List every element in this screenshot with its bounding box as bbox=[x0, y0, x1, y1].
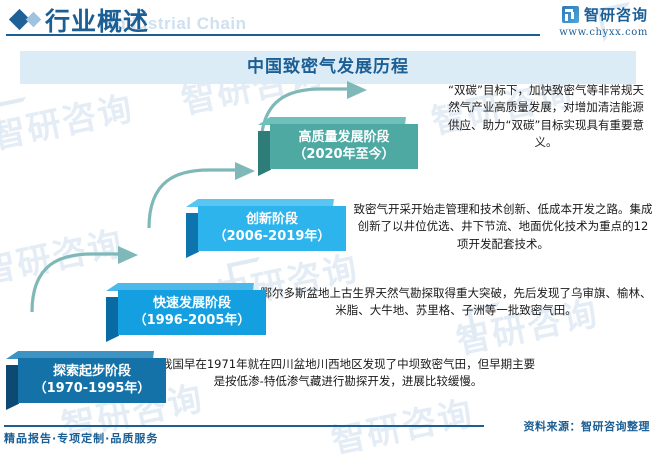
stage-3-label: 快速发展阶段 （1996-2005年） bbox=[118, 290, 266, 335]
stage-2-name: 创新阶段 bbox=[246, 212, 298, 228]
brand-logo: 智研咨询 www.chyxx.com bbox=[559, 4, 648, 38]
stage-1[interactable]: 高质量发展阶段 （2020年至今） bbox=[270, 124, 418, 169]
zhiyan-logo-icon bbox=[562, 6, 579, 23]
brand-url: www.chyxx.com bbox=[559, 27, 648, 38]
chart-title-band: 中国致密气发展历程 bbox=[20, 51, 636, 84]
stage-3-period: （1996-2005年） bbox=[134, 313, 251, 329]
stage-4-description: 我国早在1971年就在四川盆地川西地区发现了中坝致密气田，但早期主要是按低渗-特… bbox=[160, 356, 536, 391]
stage-3-block[interactable]: 快速发展阶段 （1996-2005年） bbox=[118, 290, 266, 335]
page-title: 行业概述 bbox=[45, 2, 149, 38]
stage-4-name: 探索起步阶段 bbox=[53, 364, 131, 380]
stage-1-period: （2020年至今） bbox=[293, 147, 394, 163]
footer-source: 资料来源：智研咨询整理 bbox=[524, 418, 651, 434]
stage-2-period: （2006-2019年） bbox=[214, 229, 331, 245]
stage-4[interactable]: 探索起步阶段 （1970-1995年） bbox=[18, 358, 166, 403]
header-divider bbox=[6, 34, 540, 36]
page-header: Industrial Chain 行业概述 智研咨询 www.chyxx.com bbox=[0, 0, 656, 45]
chart-title: 中国致密气发展历程 bbox=[20, 51, 636, 84]
stage-4-period: （1970-1995年） bbox=[34, 381, 151, 397]
stage-1-description: “双碳”目标下，加快致密气等非常规天然气产业高质量发展，对增加清洁能源供应、助力… bbox=[443, 82, 649, 151]
stage-4-block[interactable]: 探索起步阶段 （1970-1995年） bbox=[18, 358, 166, 403]
stage-3[interactable]: 快速发展阶段 （1996-2005年） bbox=[118, 290, 266, 335]
diamond-small-icon bbox=[26, 12, 42, 28]
stage-3-description: 鄂尔多斯盆地上古生界天然气勘探取得重大突破，先后发现了乌审旗、榆林、米脂、大牛地… bbox=[258, 285, 654, 320]
stage-2[interactable]: 创新阶段 （2006-2019年） bbox=[198, 206, 346, 251]
brand-name: 智研咨询 bbox=[584, 4, 648, 25]
stage-1-block[interactable]: 高质量发展阶段 （2020年至今） bbox=[270, 124, 418, 169]
stage-3-name: 快速发展阶段 bbox=[153, 296, 231, 312]
stage-2-block[interactable]: 创新阶段 （2006-2019年） bbox=[198, 206, 346, 251]
stage-1-label: 高质量发展阶段 （2020年至今） bbox=[270, 124, 418, 169]
footer-divider bbox=[4, 425, 484, 427]
timeline-diagram: 高质量发展阶段 （2020年至今） “双碳”目标下，加快致密气等非常规天然气产业… bbox=[0, 84, 656, 414]
stage-4-label: 探索起步阶段 （1970-1995年） bbox=[18, 358, 166, 403]
stage-1-name: 高质量发展阶段 bbox=[298, 130, 389, 146]
footer-slogan: 精品报告·专项定制·品质服务 bbox=[4, 430, 158, 446]
stage-2-description: 致密气开采开始走管理和技术创新、低成本开发之路。集成创新了以井位优选、井下节流、… bbox=[352, 201, 654, 253]
stage-2-label: 创新阶段 （2006-2019年） bbox=[198, 206, 346, 251]
